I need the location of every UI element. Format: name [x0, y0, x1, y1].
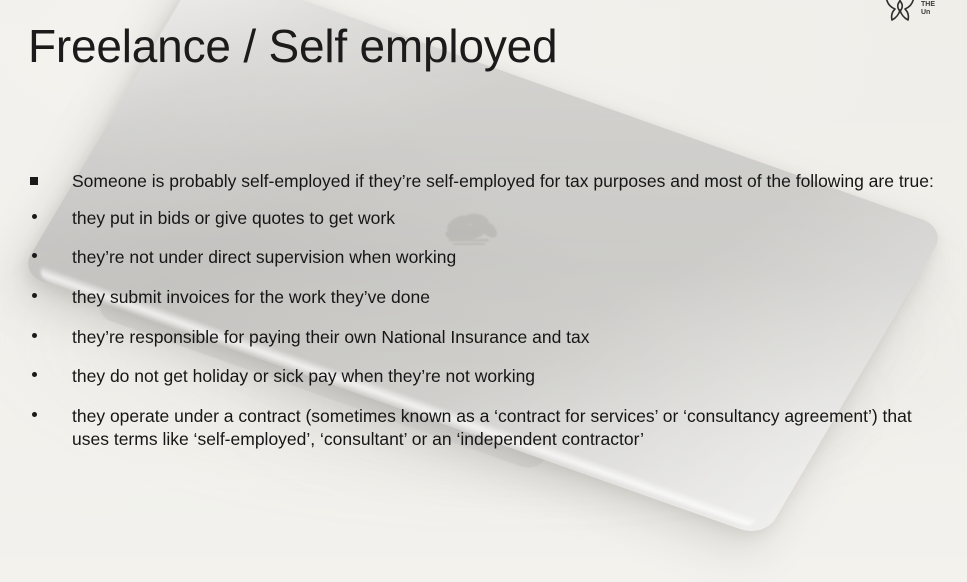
list-item: Someone is probably self-employed if the…	[24, 170, 944, 194]
slide-content: Freelance / Self employed THE Un Someone…	[0, 0, 967, 582]
logo-line-2: Un	[921, 9, 930, 16]
list-item: they put in bids or give quotes to get w…	[24, 207, 944, 231]
list-item-text: they’re responsible for paying their own…	[72, 326, 944, 350]
list-item: they’re not under direct supervision whe…	[24, 246, 944, 270]
list-item: they submit invoices for the work they’v…	[24, 286, 944, 310]
list-item-text: they submit invoices for the work they’v…	[72, 286, 944, 310]
dot-bullet-icon	[24, 405, 72, 417]
list-item: they do not get holiday or sick pay when…	[24, 365, 944, 389]
list-item-text: they do not get holiday or sick pay when…	[72, 365, 944, 389]
dot-bullet-icon	[24, 326, 72, 338]
university-crest-logo: THE Un	[883, 0, 961, 22]
list-item: they’re responsible for paying their own…	[24, 326, 944, 350]
logo-wordmark: THE Un	[921, 1, 935, 23]
dot-bullet-icon	[24, 365, 72, 377]
list-item: they operate under a contract (sometimes…	[24, 405, 944, 452]
presentation-slide: Freelance / Self employed THE Un Someone…	[0, 0, 967, 582]
page-title: Freelance / Self employed	[28, 20, 557, 73]
crest-icon	[883, 0, 917, 22]
square-bullet-icon	[24, 170, 70, 185]
list-item-text: they’re not under direct supervision whe…	[72, 246, 944, 270]
bullet-list: Someone is probably self-employed if the…	[24, 170, 944, 468]
list-item-text: they put in bids or give quotes to get w…	[72, 207, 944, 231]
dot-bullet-icon	[24, 246, 72, 258]
logo-line-1: THE	[921, 1, 935, 8]
list-item-text: they operate under a contract (sometimes…	[72, 405, 944, 452]
dot-bullet-icon	[24, 207, 72, 219]
list-item-text: Someone is probably self-employed if the…	[70, 170, 944, 194]
dot-bullet-icon	[24, 286, 72, 298]
